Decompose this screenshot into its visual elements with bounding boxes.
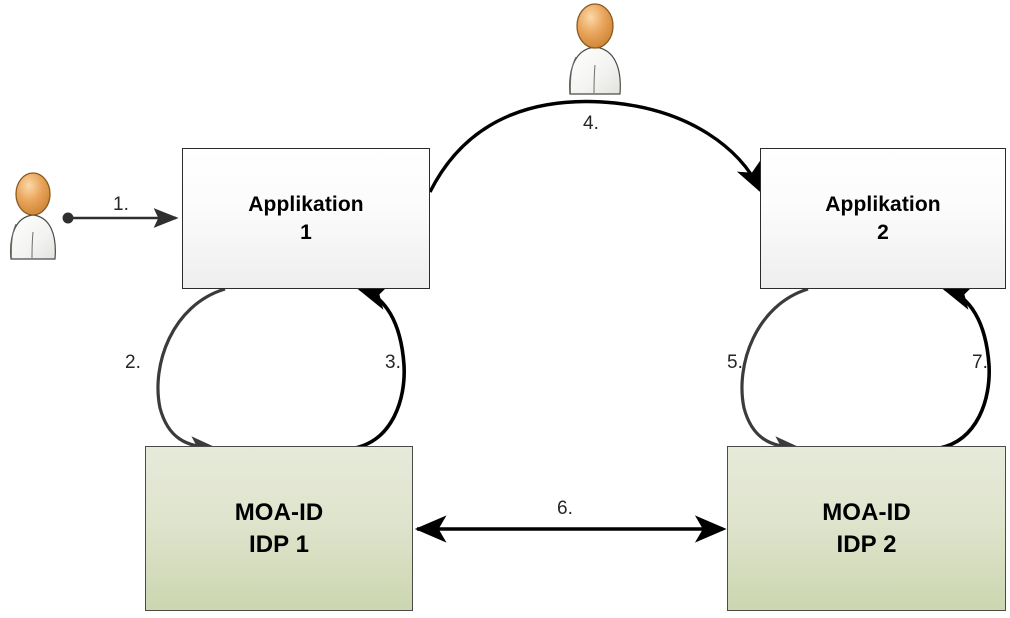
edge-7-label: 7. — [972, 352, 988, 374]
node-applikation-2-label-line2: 2 — [877, 219, 889, 246]
node-moa-id-idp-1[interactable]: MOA-ID IDP 1 — [145, 446, 413, 611]
node-moa-id-idp-2-label-line1: MOA-ID — [822, 497, 911, 528]
node-applikation-2[interactable]: Applikation 2 — [760, 148, 1006, 289]
node-moa-id-idp-2-label-line2: IDP 2 — [836, 529, 896, 560]
edge-2-label: 2. — [125, 352, 141, 374]
edge-5-connector — [742, 289, 808, 448]
node-applikation-1[interactable]: Applikation 1 — [182, 148, 430, 289]
node-moa-id-idp-1-label-line2: IDP 1 — [249, 529, 309, 560]
node-moa-id-idp-1-label-line1: MOA-ID — [235, 497, 324, 528]
edge-4-label: 4. — [583, 113, 599, 135]
edge-6-label: 6. — [557, 498, 573, 520]
node-applikation-1-label-line2: 1 — [300, 219, 312, 246]
edge-3-label: 3. — [385, 352, 401, 374]
actor-user-left-icon[interactable] — [2, 170, 64, 262]
diagram-canvas: Applikation 1 Applikation 2 MOA-ID IDP 1… — [0, 0, 1010, 618]
edge-2-connector — [158, 289, 225, 448]
node-applikation-2-label-line1: Applikation — [825, 191, 940, 218]
node-applikation-1-label-line1: Applikation — [248, 191, 363, 218]
actor-user-top-icon[interactable] — [560, 2, 630, 98]
node-moa-id-idp-2[interactable]: MOA-ID IDP 2 — [727, 446, 1006, 611]
edge-1-label: 1. — [113, 194, 129, 216]
edge-5-label: 5. — [727, 352, 743, 374]
